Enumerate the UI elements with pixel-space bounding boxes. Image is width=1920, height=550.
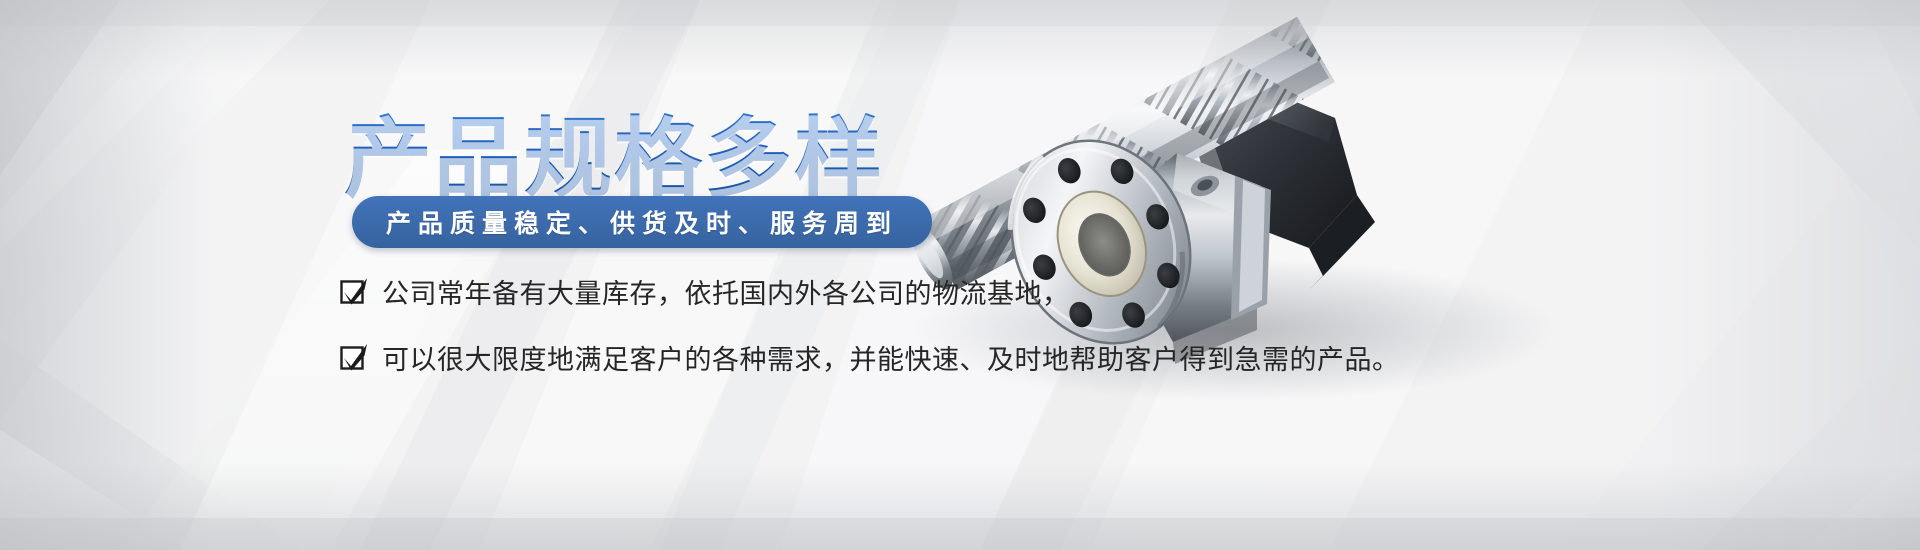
status-badge-label: 产品质量稳定、供货及时、服务周到 [386, 204, 898, 240]
checkbox-checked-icon [340, 277, 369, 306]
banner-content: 产品规格多样 产品规格多样 产品质量稳定、供货及时、服务周到 公司常年备有大量库… [0, 0, 1100, 550]
feature-list: 公司常年备有大量库存，依托国内外各公司的物流基地， 可以很大限度地满足客户的各种… [340, 272, 1400, 404]
list-item-label: 可以很大限度地满足客户的各种需求，并能快速、及时地帮助客户得到急需的产品。 [382, 338, 1400, 377]
status-badge: 产品质量稳定、供货及时、服务周到 [352, 196, 932, 248]
promo-banner: 产品规格多样 产品规格多样 产品质量稳定、供货及时、服务周到 公司常年备有大量库… [0, 0, 1920, 550]
page-title: 产品规格多样 [344, 113, 884, 205]
checkbox-checked-icon [340, 343, 369, 372]
list-item: 可以很大限度地满足客户的各种需求，并能快速、及时地帮助客户得到急需的产品。 [340, 338, 1400, 377]
list-item: 公司常年备有大量库存，依托国内外各公司的物流基地， [340, 272, 1400, 311]
list-item-label: 公司常年备有大量库存，依托国内外各公司的物流基地， [382, 272, 1070, 311]
